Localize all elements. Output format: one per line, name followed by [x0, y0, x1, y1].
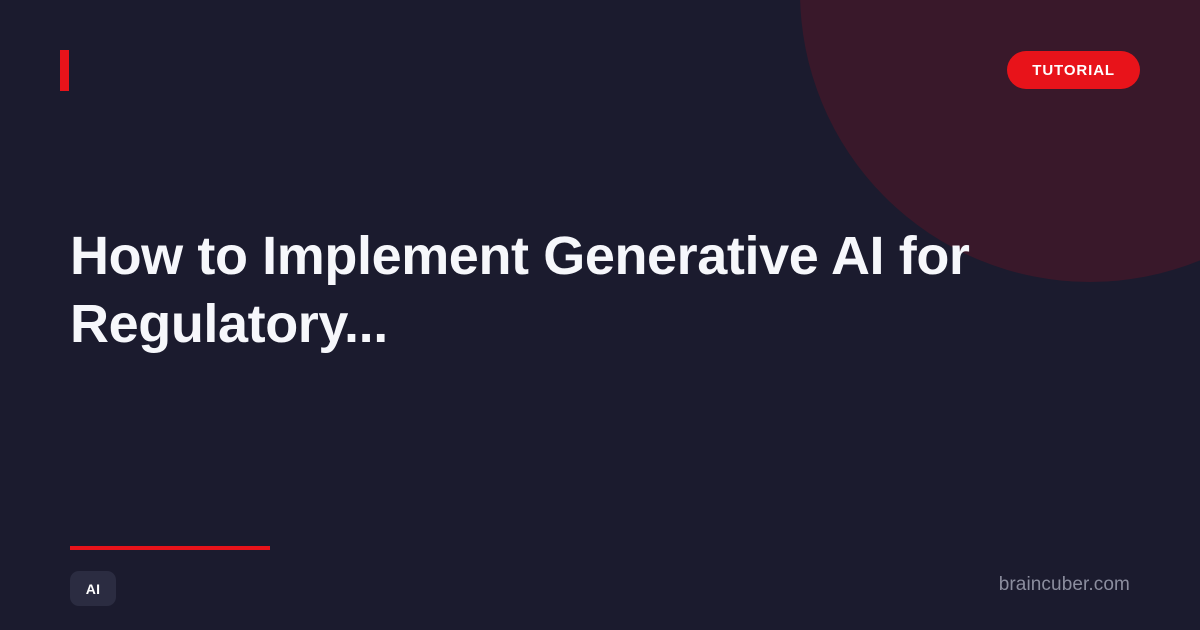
category-badge: TUTORIAL: [1007, 51, 1140, 89]
social-share-card: TUTORIAL How to Implement Generative AI …: [0, 0, 1200, 630]
red-accent-bar: [60, 50, 69, 91]
page-title: How to Implement Generative AI for Regul…: [70, 222, 1050, 358]
footer-divider: [70, 546, 270, 550]
site-domain-label: braincuber.com: [999, 574, 1130, 596]
topic-tag-chip: AI: [70, 571, 116, 606]
